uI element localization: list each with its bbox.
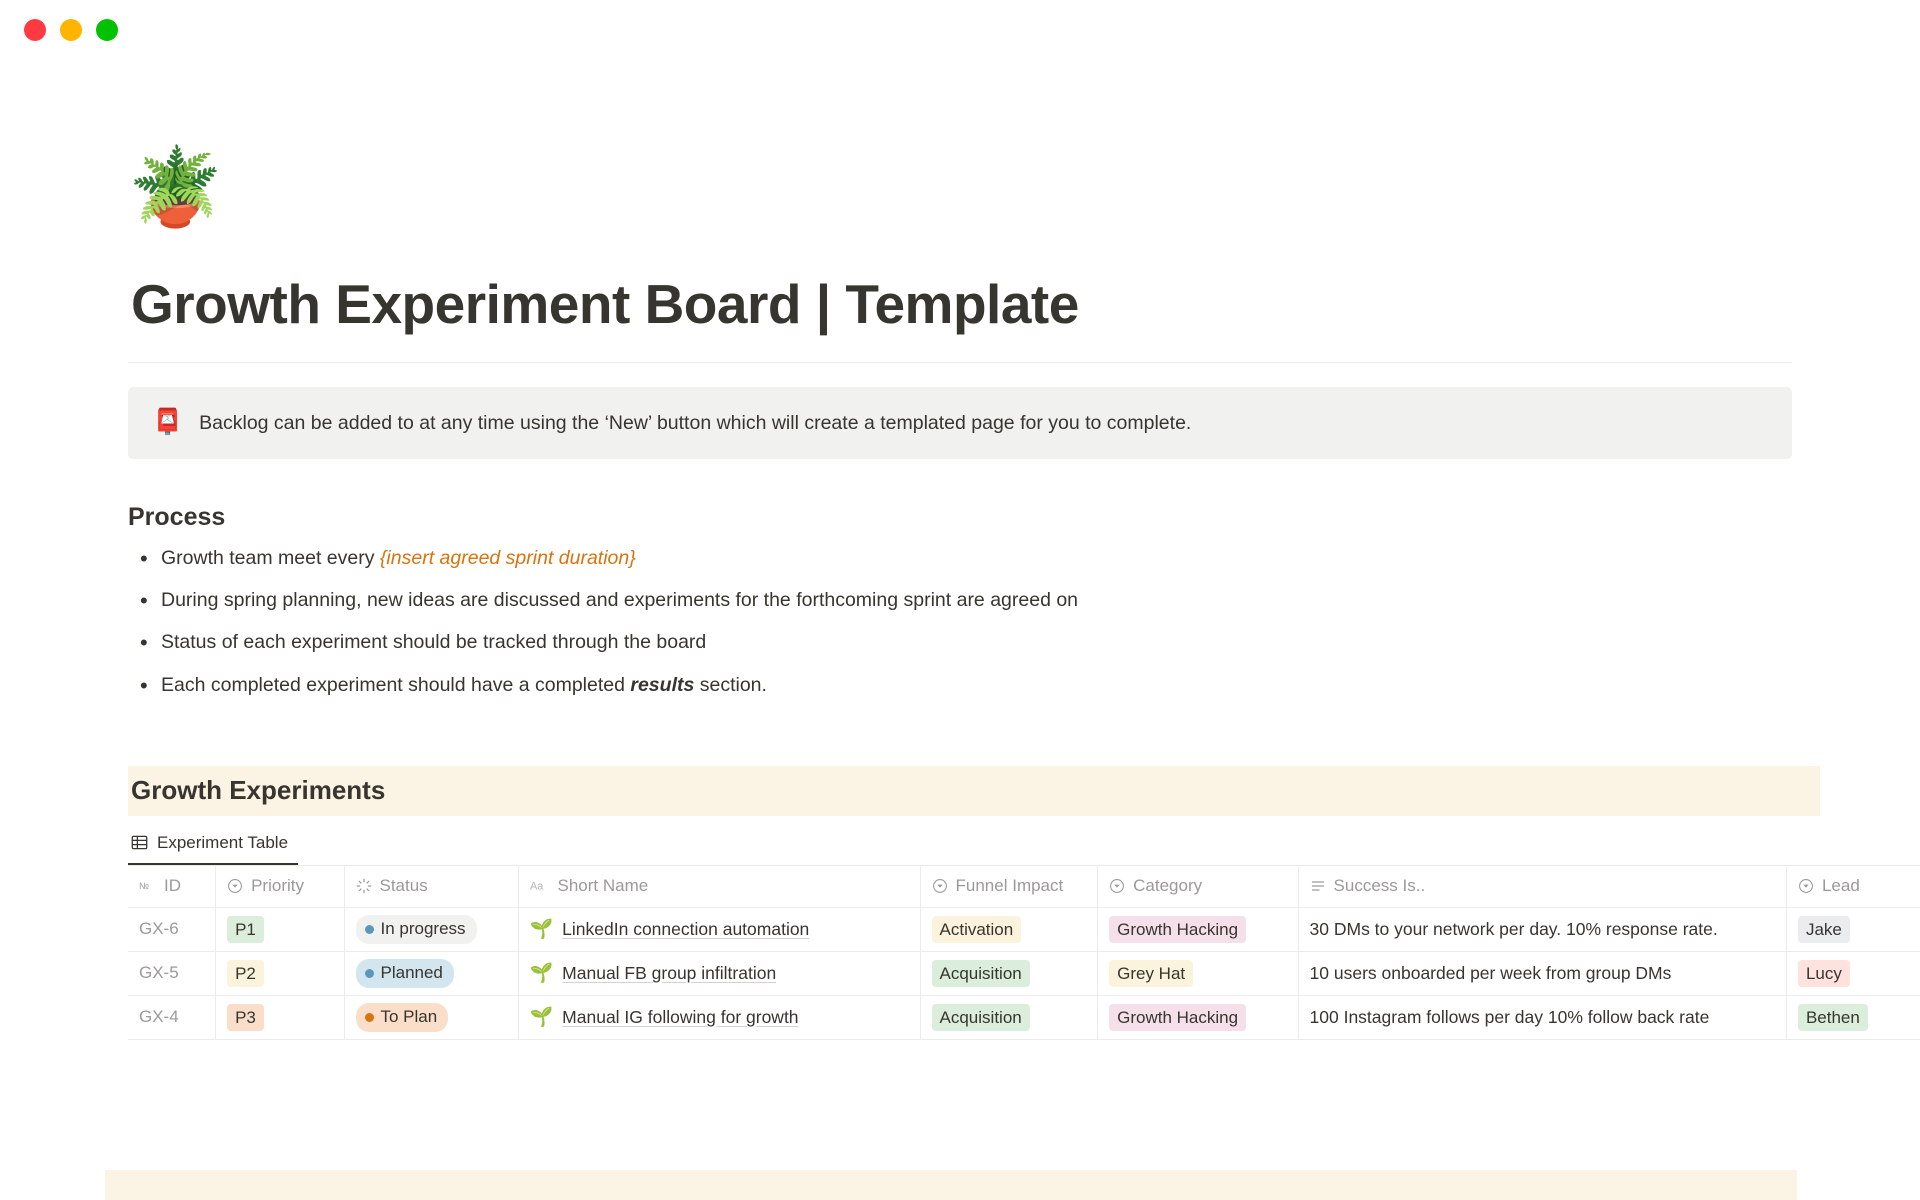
cell-success-is[interactable]: 10 users onboarded per week from group D… <box>1298 951 1786 995</box>
cell-id: GX-5 <box>128 951 216 995</box>
section-banner-next <box>105 1170 1797 1200</box>
page-link[interactable]: Manual FB group infiltration <box>562 963 776 984</box>
column-header-funnel-impact[interactable]: Funnel Impact <box>920 865 1098 907</box>
cell-priority[interactable]: P1 <box>216 907 344 951</box>
category-tag: Growth Hacking <box>1109 916 1246 943</box>
column-header-label: ID <box>164 876 181 896</box>
cell-id: GX-6 <box>128 907 216 951</box>
column-header-lead[interactable]: Lead <box>1786 865 1920 907</box>
svg-text:Aa: Aa <box>530 881 544 893</box>
column-header-label: Priority <box>251 876 304 896</box>
funnel-tag: Acquisition <box>932 960 1030 987</box>
status-badge: To Plan <box>356 1003 449 1031</box>
cell-lead[interactable]: Bethen <box>1786 995 1920 1039</box>
lead-tag: Bethen <box>1798 1004 1868 1031</box>
cell-priority[interactable]: P2 <box>216 951 344 995</box>
database-tab-bar: Experiment Table <box>128 827 1920 865</box>
process-bullet-list: Growth team meet every {insert agreed sp… <box>128 544 1920 700</box>
select-icon <box>932 878 948 894</box>
table-row[interactable]: GX-6 P1 In progress 🌱 LinkedIn connectio… <box>128 907 1920 951</box>
lead-tag: Jake <box>1798 916 1850 943</box>
column-header-id[interactable]: № ID <box>128 865 216 907</box>
status-icon <box>356 878 372 894</box>
column-header-label: Short Name <box>558 876 649 896</box>
table-row[interactable]: GX-5 P2 Planned 🌱 Manual FB group infilt… <box>128 951 1920 995</box>
status-dot-icon <box>365 925 374 934</box>
cell-lead[interactable]: Lucy <box>1786 951 1920 995</box>
bullet-text: Each completed experiment should have a … <box>161 674 630 696</box>
category-tag: Growth Hacking <box>1109 1004 1246 1031</box>
category-tag: Grey Hat <box>1109 960 1193 987</box>
select-icon <box>1109 878 1125 894</box>
page-icon-potted-plant[interactable]: 🪴 <box>128 142 1920 234</box>
page-link[interactable]: LinkedIn connection automation <box>562 919 809 940</box>
window-titlebar <box>0 0 1920 60</box>
column-header-label: Funnel Impact <box>956 876 1064 896</box>
funnel-tag: Activation <box>932 916 1022 943</box>
column-header-success-is[interactable]: Success Is.. <box>1298 865 1786 907</box>
table-icon <box>131 834 148 851</box>
select-icon <box>1798 878 1814 894</box>
column-header-priority[interactable]: Priority <box>216 865 344 907</box>
page-title: Growth Experiment Board | Template <box>131 274 1920 336</box>
tab-label: Experiment Table <box>157 833 288 853</box>
seedling-icon: 🌱 <box>530 920 554 939</box>
status-dot-icon <box>365 969 374 978</box>
column-header-label: Status <box>380 876 428 896</box>
list-item: Status of each experiment should be trac… <box>128 628 1920 657</box>
page-content: 🪴 Growth Experiment Board | Template 📮 B… <box>0 142 1920 1040</box>
experiment-table: № ID Priority <box>128 865 1920 1040</box>
seedling-icon: 🌱 <box>530 1008 554 1027</box>
cell-short-name[interactable]: 🌱 Manual IG following for growth <box>518 995 920 1039</box>
title-icon: Aa <box>530 879 550 893</box>
bullet-bold-italic: results <box>630 674 694 696</box>
column-header-status[interactable]: Status <box>344 865 518 907</box>
window-close-button[interactable] <box>24 19 46 41</box>
status-badge: In progress <box>356 915 477 943</box>
tab-experiment-table[interactable]: Experiment Table <box>128 833 298 865</box>
column-header-label: Lead <box>1822 876 1860 896</box>
priority-tag: P2 <box>227 960 264 987</box>
bullet-suffix: section. <box>694 674 767 696</box>
table-header-row: № ID Priority <box>128 865 1920 907</box>
cell-id: GX-4 <box>128 995 216 1039</box>
status-label: In progress <box>381 919 466 939</box>
postbox-icon: 📮 <box>152 410 183 435</box>
bullet-text: Growth team meet every <box>161 547 380 569</box>
status-dot-icon <box>365 1013 374 1022</box>
svg-text:№: № <box>139 881 149 891</box>
bullet-text: Status of each experiment should be trac… <box>161 631 706 653</box>
cell-funnel-impact[interactable]: Activation <box>920 907 1098 951</box>
status-label: To Plan <box>381 1007 438 1027</box>
seedling-icon: 🌱 <box>530 964 554 983</box>
cell-status[interactable]: To Plan <box>344 995 518 1039</box>
window-minimize-button[interactable] <box>60 19 82 41</box>
section-banner-growth-experiments: Growth Experiments <box>128 766 1820 816</box>
bullet-text: During spring planning, new ideas are di… <box>161 589 1078 611</box>
cell-lead[interactable]: Jake <box>1786 907 1920 951</box>
list-item: Growth team meet every {insert agreed sp… <box>128 544 1920 573</box>
funnel-tag: Acquisition <box>932 1004 1030 1031</box>
cell-category[interactable]: Growth Hacking <box>1098 907 1298 951</box>
bullet-emphasis: {insert agreed sprint duration} <box>380 547 636 569</box>
column-header-label: Success Is.. <box>1334 876 1426 896</box>
select-icon <box>227 878 243 894</box>
cell-funnel-impact[interactable]: Acquisition <box>920 951 1098 995</box>
cell-status[interactable]: In progress <box>344 907 518 951</box>
cell-category[interactable]: Growth Hacking <box>1098 995 1298 1039</box>
list-item: During spring planning, new ideas are di… <box>128 586 1920 615</box>
column-header-label: Category <box>1133 876 1202 896</box>
cell-category[interactable]: Grey Hat <box>1098 951 1298 995</box>
cell-success-is[interactable]: 100 Instagram follows per day 10% follow… <box>1298 995 1786 1039</box>
priority-tag: P3 <box>227 1004 264 1031</box>
text-icon <box>1310 878 1326 894</box>
lead-tag: Lucy <box>1798 960 1850 987</box>
status-label: Planned <box>381 963 443 983</box>
title-divider <box>128 362 1792 363</box>
callout-block: 📮 Backlog can be added to at any time us… <box>128 387 1792 459</box>
cell-priority[interactable]: P3 <box>216 995 344 1039</box>
column-header-category[interactable]: Category <box>1098 865 1298 907</box>
priority-tag: P1 <box>227 916 264 943</box>
column-header-short-name[interactable]: Aa Short Name <box>518 865 920 907</box>
page-link[interactable]: Manual IG following for growth <box>562 1007 798 1028</box>
process-heading: Process <box>128 503 1920 532</box>
table-row[interactable]: GX-4 P3 To Plan 🌱 Manual IG following fo… <box>128 995 1920 1039</box>
cell-short-name[interactable]: 🌱 LinkedIn connection automation <box>518 907 920 951</box>
cell-success-is[interactable]: 30 DMs to your network per day. 10% resp… <box>1298 907 1786 951</box>
number-icon: № <box>139 880 156 893</box>
section-title: Growth Experiments <box>131 775 385 806</box>
window-maximize-button[interactable] <box>96 19 118 41</box>
status-badge: Planned <box>356 959 454 987</box>
cell-short-name[interactable]: 🌱 Manual FB group infiltration <box>518 951 920 995</box>
cell-status[interactable]: Planned <box>344 951 518 995</box>
list-item: Each completed experiment should have a … <box>128 671 1920 700</box>
cell-funnel-impact[interactable]: Acquisition <box>920 995 1098 1039</box>
callout-text: Backlog can be added to at any time usin… <box>199 409 1191 437</box>
